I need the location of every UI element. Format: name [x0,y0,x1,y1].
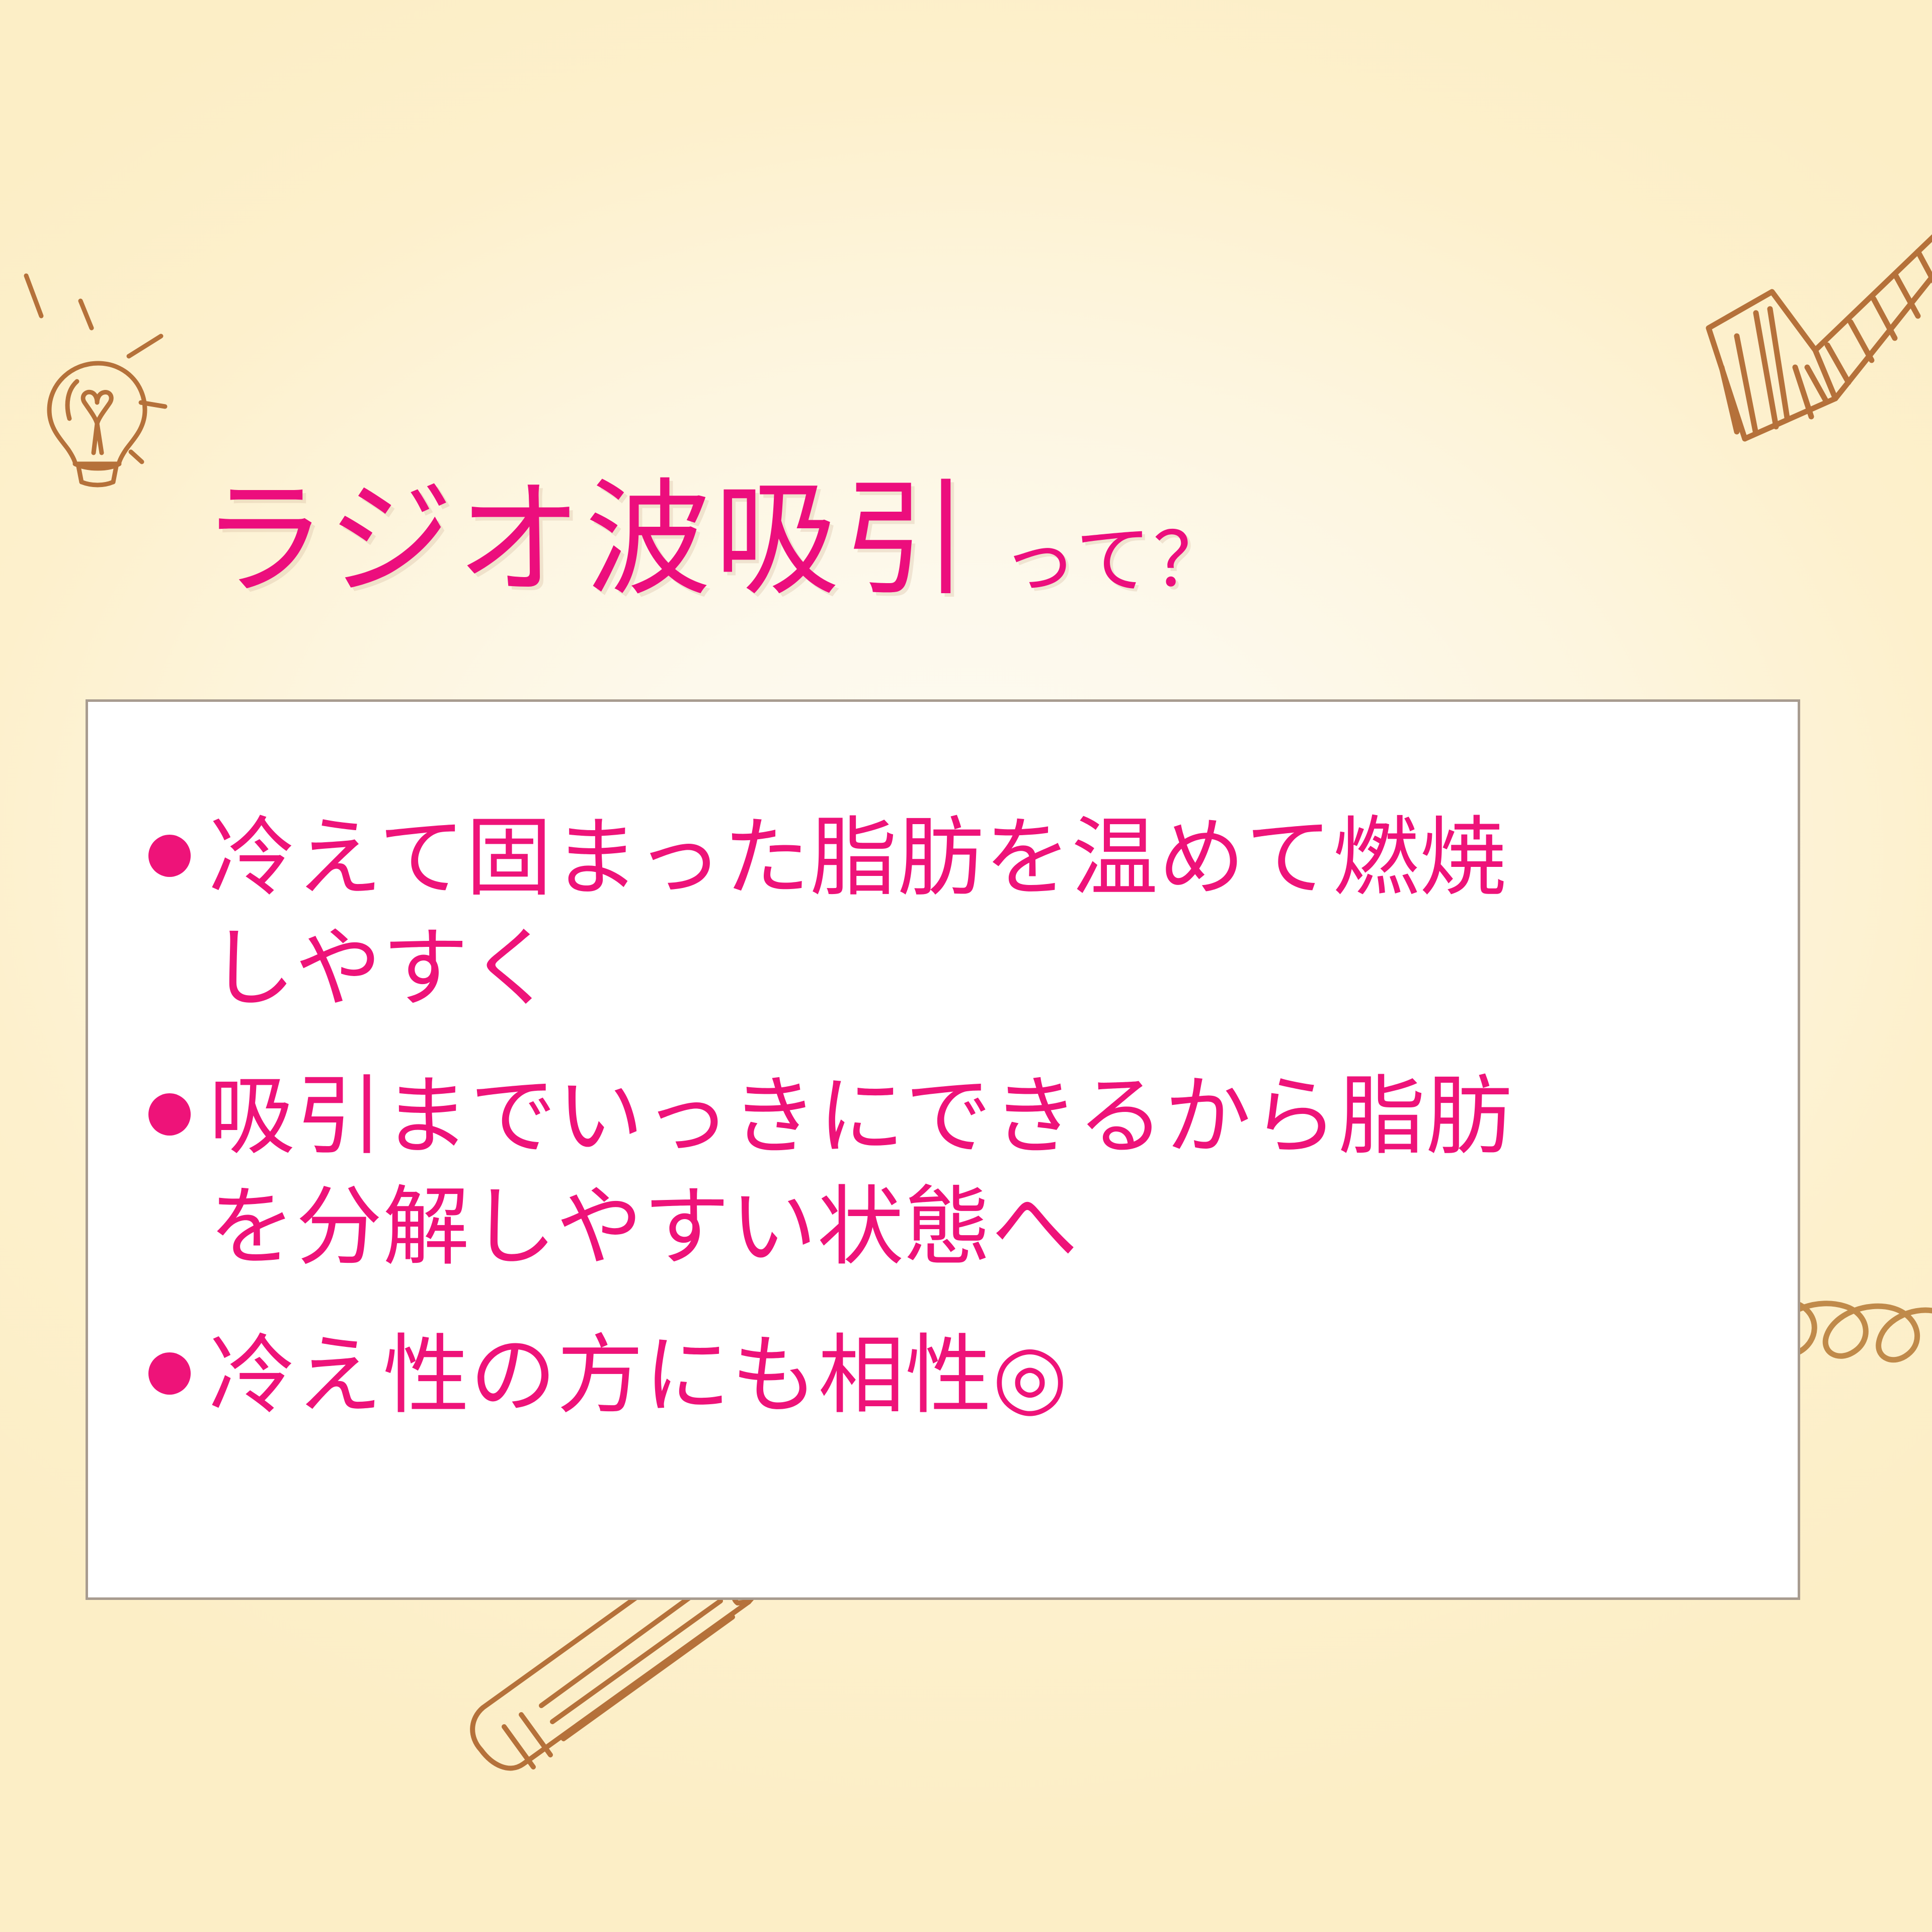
bullet-line: 吸引までいっきにできるから脂肪 [209,1061,1513,1172]
bullet-line: 冷え性の方にも相性◎ [209,1320,1068,1431]
bullet-text: 吸引までいっきにできるから脂肪 を分解しやすい状態へ [209,1061,1513,1282]
lightbulb-icon [5,236,186,488]
page-title: ラジオ波吸引 って？ [201,477,1231,603]
bullet-dot-icon [148,1352,191,1395]
arrow-icon [1610,201,1932,503]
list-item: 冷え性の方にも相性◎ [148,1320,1767,1431]
content-card: 冷えて固まった脂肪を温めて燃焼 しやすく 吸引までいっきにできるから脂肪 を分解… [86,699,1800,1600]
title-suffix-text: って？ [1002,522,1231,603]
bullet-dot-icon [148,835,191,877]
bullet-line: しやすく [209,913,1507,1024]
bullet-line: を分解しやすい状態へ [209,1172,1513,1282]
bullet-line: 冷えて固まった脂肪を温めて燃焼 [209,802,1507,913]
title-main-text: ラジオ波吸引 [201,477,972,603]
bullet-list: 冷えて固まった脂肪を温めて燃焼 しやすく 吸引までいっきにできるから脂肪 を分解… [148,802,1767,1431]
list-item: 冷えて固まった脂肪を温めて燃焼 しやすく [148,802,1767,1024]
poster-canvas: ラジオ波吸引 って？ 冷えて固まった脂肪を温めて燃焼 しやすく 吸引までいっきに… [0,0,1932,1932]
bullet-text: 冷え性の方にも相性◎ [209,1320,1068,1431]
bullet-text: 冷えて固まった脂肪を温めて燃焼 しやすく [209,802,1507,1024]
list-item: 吸引までいっきにできるから脂肪 を分解しやすい状態へ [148,1061,1767,1282]
bullet-dot-icon [148,1093,191,1136]
